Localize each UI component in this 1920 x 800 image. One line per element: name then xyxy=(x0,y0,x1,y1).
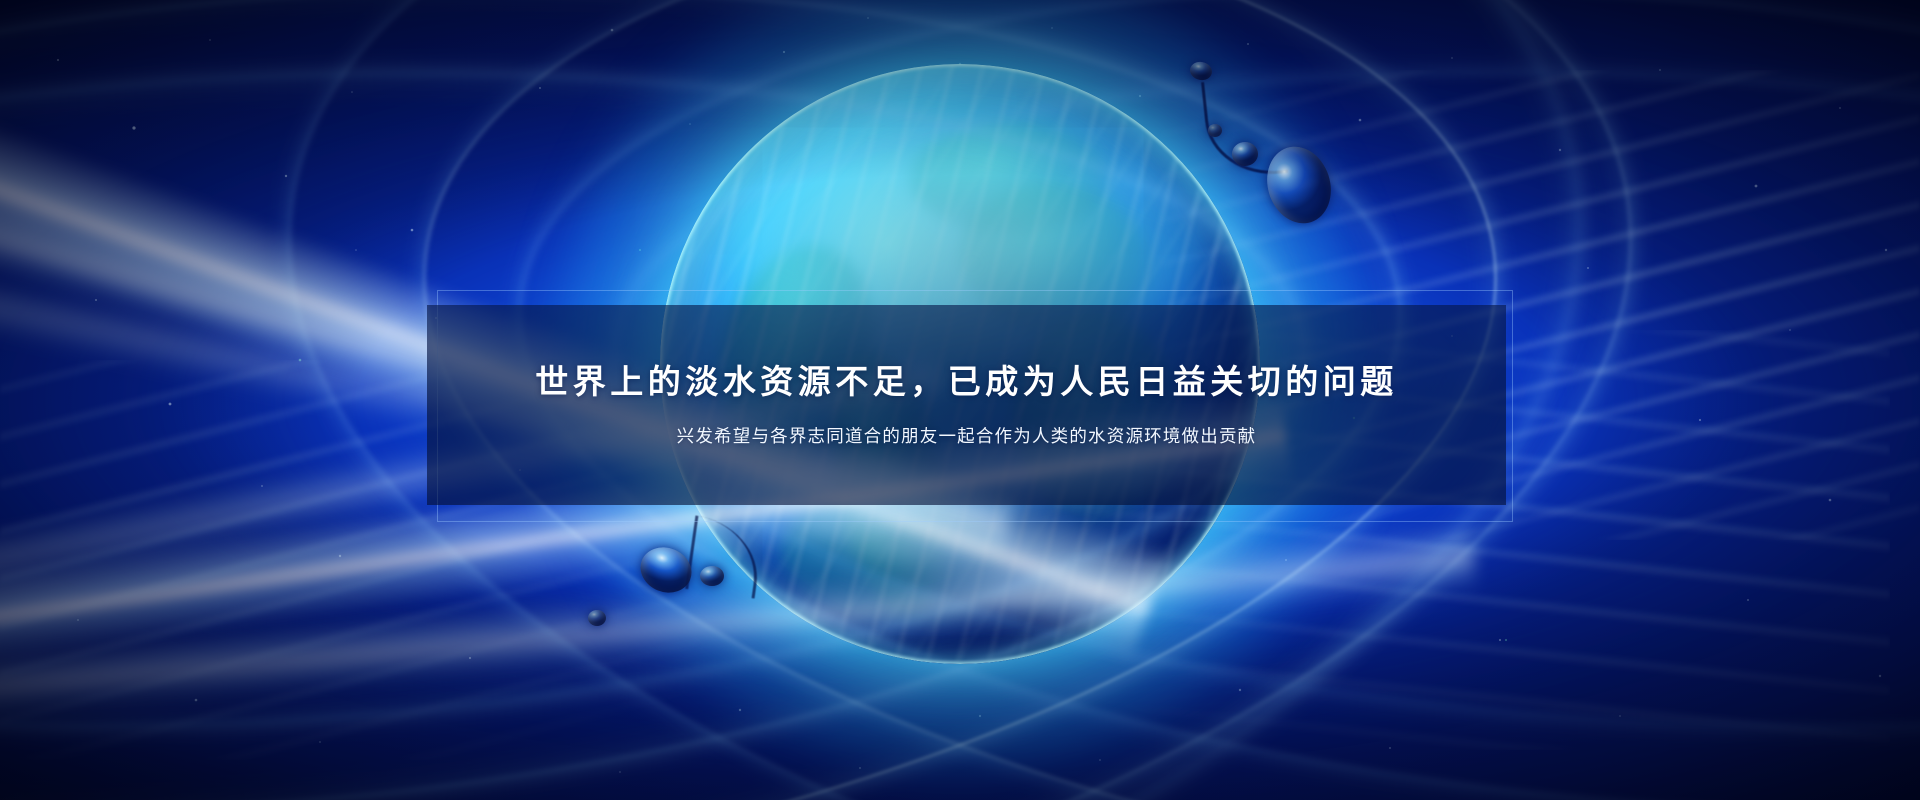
water-droplet xyxy=(588,610,606,626)
hero-banner: 世界上的淡水资源不足，已成为人民日益关切的问题 兴发希望与各界志同道合的朋友一起… xyxy=(0,0,1920,800)
banner-headline: 世界上的淡水资源不足，已成为人民日益关切的问题 xyxy=(535,361,1398,404)
banner-subheadline: 兴发希望与各界志同道合的朋友一起合作为人类的水资源环境做出贡献 xyxy=(677,424,1257,449)
water-droplet xyxy=(1232,142,1258,166)
text-box-panel: 世界上的淡水资源不足，已成为人民日益关切的问题 兴发希望与各界志同道合的朋友一起… xyxy=(427,305,1506,505)
water-droplet xyxy=(1208,124,1222,137)
water-droplet xyxy=(700,566,724,586)
